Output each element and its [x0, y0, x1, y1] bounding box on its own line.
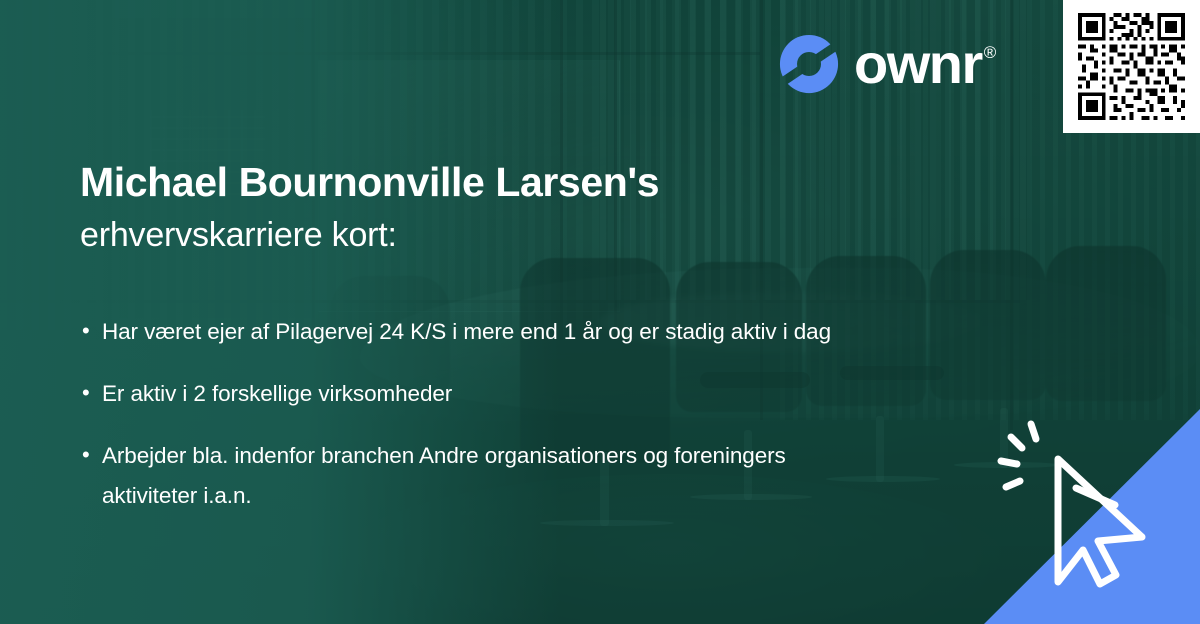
list-item: Arbejder bla. indenfor branchen Andre or… [80, 436, 870, 516]
registered-trademark-symbol: ® [984, 41, 997, 65]
list-item: Er aktiv i 2 forskellige virksomheder [80, 374, 870, 414]
ownr-circle-swoosh-logo-icon [778, 33, 840, 95]
list-item: Har været ejer af Pilagervej 24 K/S i me… [80, 312, 870, 352]
career-facts-list: Har været ejer af Pilagervej 24 K/S i me… [80, 312, 870, 516]
subtitle: erhvervskarriere kort: [80, 210, 980, 260]
qr-code[interactable] [1063, 0, 1200, 133]
page-title: Michael Bournonville Larsen's erhvervska… [80, 156, 980, 260]
corner-accent [984, 409, 1200, 624]
person-name: Michael Bournonville Larsen's [80, 156, 980, 208]
career-card: ownr ® [0, 0, 1200, 624]
logo-wordmark: ownr [854, 35, 982, 93]
ownr-logo: ownr ® [778, 33, 996, 95]
